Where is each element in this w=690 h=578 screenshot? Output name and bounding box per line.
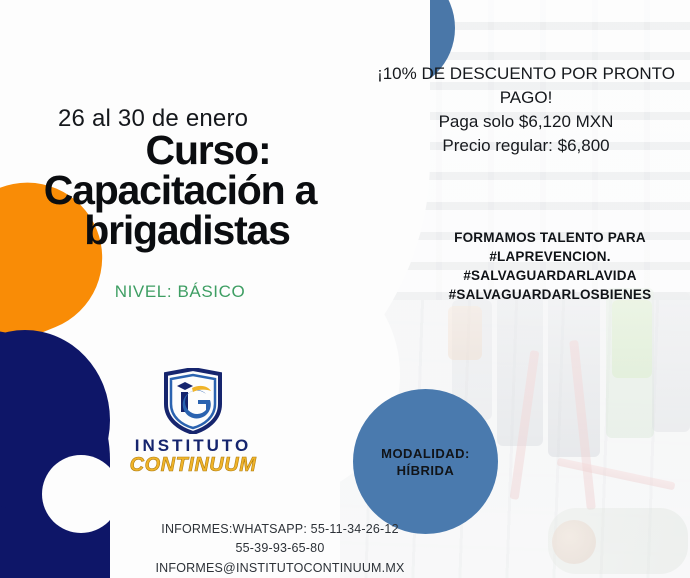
contact-whatsapp: INFORMES:WHATSAPP: 55-11-34-26-12	[120, 520, 440, 539]
logo-word-instituto: INSTITUTO	[135, 436, 251, 456]
promo-regular-price: Precio regular: $6,800	[370, 134, 682, 158]
modality-badge: MODALIDAD: HÍBRIDA	[353, 389, 498, 534]
hashtag-line-2: #LAPREVENCION.	[420, 247, 680, 266]
modality-label: MODALIDAD:	[381, 446, 470, 461]
institute-logo: INSTITUTO CONTINUUM	[118, 368, 268, 477]
logo-word-continuum: CONTINUUM	[130, 454, 257, 477]
course-title-line-3: brigadistas	[14, 210, 360, 250]
hashtag-line-1: FORMAMOS TALENTO PARA	[420, 228, 680, 247]
modality-value: HÍBRIDA	[397, 463, 455, 478]
contact-block: INFORMES:WHATSAPP: 55-11-34-26-12 55-39-…	[120, 520, 440, 578]
hashtag-block: FORMAMOS TALENTO PARA #LAPREVENCION. #SA…	[420, 228, 680, 305]
hashtag-line-3: #SALVAGUARDARLAVIDA	[420, 266, 680, 285]
shield-icon	[162, 368, 224, 434]
contact-phone: 55-39-93-65-80	[120, 539, 440, 558]
promo-sale-price: Paga solo $6,120 MXN	[370, 110, 682, 134]
decorative-white-dot	[42, 455, 120, 533]
course-title: Curso: Capacitación a brigadistas	[0, 130, 360, 251]
promo-discount-line-2: PAGO!	[370, 86, 682, 110]
promotional-flyer: 26 al 30 de enero Curso: Capacitación a …	[0, 0, 690, 578]
hashtag-line-4: #SALVAGUARDARLOSBIENES	[420, 285, 680, 304]
course-title-line-2: Capacitación a	[0, 170, 360, 210]
promo-pricing-block: ¡10% DE DESCUENTO POR PRONTO PAGO! Paga …	[370, 62, 682, 159]
contact-email: INFORMES@INSTITUTOCONTINUUM.MX	[120, 559, 440, 578]
course-level: NIVEL: BÁSICO	[0, 282, 360, 302]
promo-discount-line-1: ¡10% DE DESCUENTO POR PRONTO	[370, 62, 682, 86]
course-title-line-1: Curso:	[56, 130, 360, 170]
